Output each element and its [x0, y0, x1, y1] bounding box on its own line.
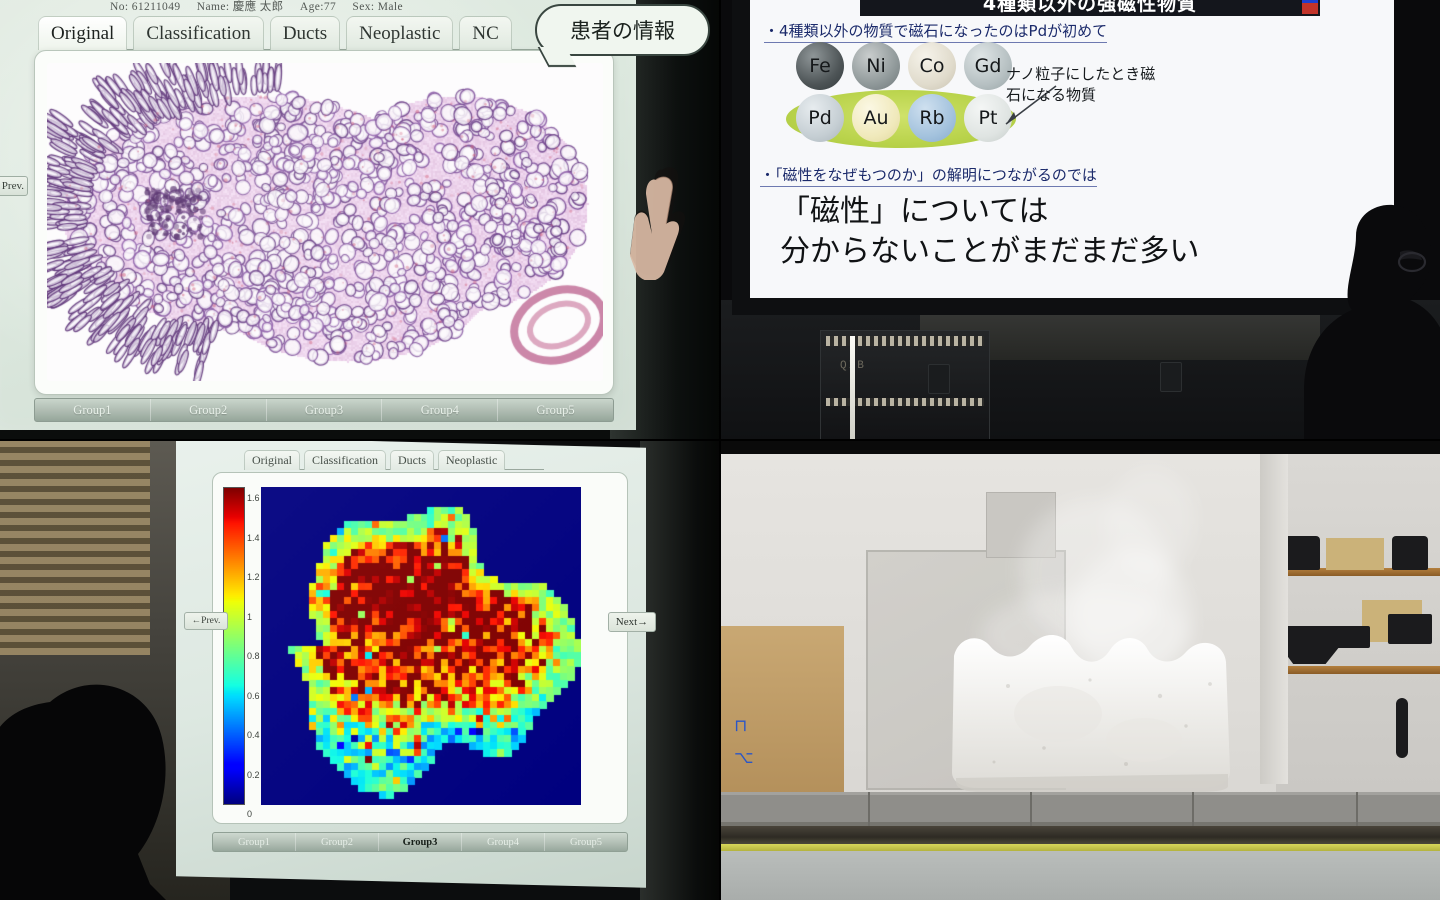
- patient-name: Name: 慶應 太郎: [197, 1, 284, 13]
- colorbar-tick: 0: [247, 809, 252, 819]
- prev-button-bottom[interactable]: ←Prev.: [184, 612, 228, 630]
- group-tab-bar: Group1 Group2 Group3 Group4 Group5: [34, 398, 614, 422]
- next-button-bottom[interactable]: Next→: [608, 612, 656, 632]
- heatmap-image: [261, 487, 581, 805]
- colorbar-tick: 0.2: [247, 770, 260, 780]
- annotation-text: ナノ粒子にしたとき磁石になる物質: [1006, 64, 1156, 106]
- histology-image: [47, 63, 603, 381]
- quadrant-divider-vertical: [719, 0, 721, 900]
- colorbar-tick: 1: [247, 612, 252, 622]
- panel-symbol-icon-2: ⌥: [734, 748, 754, 770]
- tab-ducts[interactable]: Ducts: [270, 16, 340, 50]
- shelf-box-b: [1392, 536, 1428, 570]
- slide-bullet-2: ・「磁性をなぜもつのか」の解明につながるのでは: [760, 164, 1097, 187]
- vertical-light-pipe: [850, 336, 855, 440]
- rail-seam-4: [1356, 792, 1358, 826]
- element-ni: Ni: [852, 42, 900, 90]
- slide-title-text: 4種類以外の強磁性物質: [983, 0, 1197, 16]
- window-blinds: [0, 440, 150, 655]
- conclusion-line-2: 分からないことがまだまだ多い: [780, 232, 1199, 272]
- tab-ducts-2[interactable]: Ducts: [390, 450, 434, 470]
- presenter-hand: [628, 162, 690, 280]
- shelf-lower: [1276, 666, 1440, 674]
- colorbar-tick: 0.6: [247, 691, 260, 701]
- group-tab-3[interactable]: Group3: [267, 399, 383, 421]
- group-tab-4[interactable]: Group4: [382, 399, 498, 421]
- panel-symbol-icon-1: ⊓: [734, 716, 754, 740]
- rail-yellow-stripe: [720, 844, 1440, 851]
- magnet-track-dark: [720, 826, 1440, 846]
- colorbar-tick: 1.6: [247, 493, 260, 503]
- shelf-tool-c: [1388, 614, 1432, 644]
- speaker-right: [1160, 362, 1182, 392]
- element-co: Co: [908, 42, 956, 90]
- screenshot-stage: No: 61211049 Name: 慶應 太郎 Age:77 Sex: Mal…: [0, 0, 1440, 900]
- group-tab-2-b[interactable]: Group2: [296, 833, 379, 851]
- prev-button-top[interactable]: ←Prev.: [0, 176, 28, 196]
- tab-neoplastic[interactable]: Neoplastic: [346, 16, 453, 50]
- room-dark-edge-right: [640, 440, 720, 900]
- quadrant-divider-horizontal: [0, 439, 1440, 441]
- vapor-cloud-4: [1106, 466, 1196, 576]
- shelf-box-tan: [1326, 538, 1384, 570]
- title-color-chip-icon: [1302, 0, 1318, 14]
- panel-heatmap-viewer: Original Classification Ducts Neoplastic…: [0, 440, 720, 900]
- tab-classification[interactable]: Classification: [133, 16, 263, 50]
- group-tab-bar-2: Group1 Group2 Group3 Group4 Group5: [212, 832, 628, 852]
- table-surface: [720, 851, 1440, 900]
- patient-age: Age:77: [300, 1, 336, 13]
- group-tab-5-b[interactable]: Group5: [545, 833, 627, 851]
- levitating-superconductor-block: [948, 622, 1236, 792]
- tab-neoplastic-2[interactable]: Neoplastic: [438, 450, 505, 470]
- element-au: Au: [852, 94, 900, 142]
- element-rb: Rb: [908, 94, 956, 142]
- colorbar: [223, 487, 245, 805]
- patient-info-callout: 患者の情報: [535, 4, 710, 56]
- panel-lecture-room: QIB 4種類以外の強磁性物質 ・4種類以外の物質で磁石になったのはPdが初めて…: [720, 0, 1440, 440]
- shelf-rod: [1396, 698, 1408, 758]
- group-tab-1-b[interactable]: Group1: [213, 833, 296, 851]
- equipment-cabinet: [820, 330, 990, 440]
- slide-bullet-1: ・4種類以外の物質で磁石になったのはPdが初めて: [764, 20, 1107, 43]
- tab-classification-2[interactable]: Classification: [304, 450, 386, 470]
- group-tab-1[interactable]: Group1: [35, 399, 151, 421]
- element-pd: Pd: [796, 94, 844, 142]
- group-tab-3-b[interactable]: Group3: [379, 833, 462, 851]
- colorbar-tick: 0.8: [247, 651, 260, 661]
- wall-column: [1260, 454, 1288, 784]
- tab-original[interactable]: Original: [38, 16, 127, 50]
- tab-nc[interactable]: NC: [459, 16, 511, 50]
- element-fe: Fe: [796, 42, 844, 90]
- shelf-tool-a: [1286, 626, 1370, 648]
- rail-seam-3: [1192, 792, 1194, 826]
- group-tab-5[interactable]: Group5: [498, 399, 613, 421]
- slide-title: 4種類以外の強磁性物質: [860, 0, 1320, 16]
- colorbar-tick: 0.4: [247, 730, 260, 740]
- video-letterbox: [720, 440, 1440, 454]
- rail-seam-1: [868, 792, 870, 826]
- colorbar-tick: 1.2: [247, 572, 260, 582]
- magnetic-rail-top: [720, 792, 1440, 826]
- patient-header: No: 61211049 Name: 慶應 太郎 Age:77 Sex: Mal…: [110, 0, 540, 14]
- panel-pathology-viewer: No: 61211049 Name: 慶應 太郎 Age:77 Sex: Mal…: [0, 0, 720, 440]
- patient-sex: Sex: Male: [352, 1, 403, 13]
- audience-person-silhouette: [1260, 200, 1440, 440]
- group-tab-4-b[interactable]: Group4: [462, 833, 545, 851]
- rail-seam-2: [1030, 792, 1032, 826]
- panel-superconductor-demo: ⊓ ⌥: [720, 440, 1440, 900]
- slide-image-panel: [34, 50, 614, 395]
- heatmap-panel: 00.20.40.60.811.21.41.6: [212, 472, 628, 824]
- slide-conclusion: 「磁性」については 分からないことがまだまだ多い: [780, 192, 1199, 272]
- group-tab-2[interactable]: Group2: [151, 399, 267, 421]
- colorbar-tick: 1.4: [247, 533, 260, 543]
- patient-id: No: 61211049: [110, 1, 181, 13]
- viewer-head-silhouette: [0, 650, 205, 900]
- wall-tan-panel: [720, 626, 844, 796]
- tab-original-2[interactable]: Original: [244, 450, 300, 470]
- conclusion-line-1: 「磁性」については: [780, 192, 1199, 232]
- viewer-tabs-2: Original Classification Ducts Neoplastic: [244, 450, 544, 470]
- viewer-window: Original Classification Ducts Neoplastic…: [208, 450, 632, 870]
- speaker-left: [928, 364, 950, 394]
